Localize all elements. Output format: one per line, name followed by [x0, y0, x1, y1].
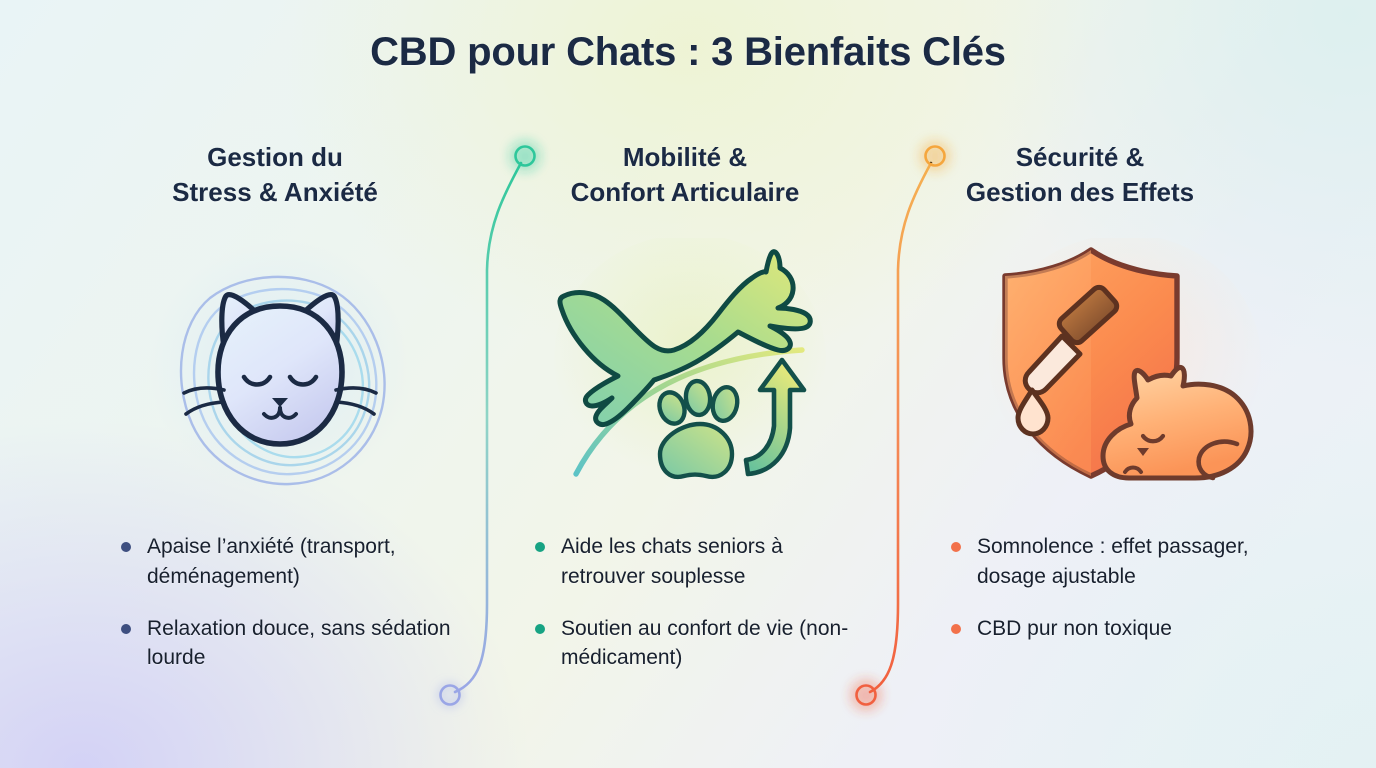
column-mobilite: Mobilité & Confort Articulaire [505, 140, 865, 209]
list-item: CBD pur non toxique [948, 614, 1278, 644]
bullet-dot-icon [121, 624, 131, 634]
list-item: Somnolence : effet passager, dosage ajus… [948, 532, 1278, 592]
heading-line-1: Sécurité & [1016, 142, 1145, 172]
bullet-list-mobilite: Aide les chats seniors à retrouver soupl… [532, 532, 862, 673]
list-item: Aide les chats seniors à retrouver soupl… [532, 532, 862, 592]
leaping-cat-paw-and-up-arrow-icon [550, 238, 830, 498]
column-securite: Sécurité & Gestion des Effets [900, 140, 1260, 209]
list-item-text: Soutien au confort de vie (non-médicamen… [561, 617, 848, 670]
list-item: Soutien au confort de vie (non-médicamen… [532, 614, 862, 674]
list-item-text: CBD pur non toxique [977, 617, 1172, 640]
heading-line-2: Confort Articulaire [571, 177, 800, 207]
calm-cat-face-with-ripples-icon [140, 238, 420, 498]
list-item-text: Somnolence : effet passager, dosage ajus… [977, 535, 1249, 588]
bullet-dot-icon [535, 542, 545, 552]
bullet-dot-icon [535, 624, 545, 634]
column-heading-stress: Gestion du Stress & Anxiété [95, 140, 455, 209]
heading-line-2: Stress & Anxiété [172, 177, 378, 207]
bullet-dot-icon [121, 542, 131, 552]
heading-line-2: Gestion des Effets [966, 177, 1194, 207]
list-item-text: Apaise l’anxiété (transport, déménagemen… [147, 535, 396, 588]
list-item: Apaise l’anxiété (transport, déménagemen… [118, 532, 464, 592]
heading-line-1: Mobilité & [623, 142, 747, 172]
list-item-text: Aide les chats seniors à retrouver soupl… [561, 535, 783, 588]
column-stress: Gestion du Stress & Anxiété [95, 140, 455, 209]
list-item: Relaxation douce, sans sédation lourde [118, 614, 464, 674]
column-heading-mobilite: Mobilité & Confort Articulaire [505, 140, 865, 209]
shield-dropper-sleeping-cat-icon [985, 238, 1265, 498]
list-item-text: Relaxation douce, sans sédation lourde [147, 617, 451, 670]
bullet-list-securite: Somnolence : effet passager, dosage ajus… [948, 532, 1278, 643]
bullet-dot-icon [951, 624, 961, 634]
bullet-dot-icon [951, 542, 961, 552]
heading-line-1: Gestion du [207, 142, 343, 172]
infographic-canvas: CBD pour Chats : 3 Bienfaits Clés [0, 0, 1376, 768]
bullet-list-stress: Apaise l’anxiété (transport, déménagemen… [118, 532, 464, 673]
column-heading-securite: Sécurité & Gestion des Effets [900, 140, 1260, 209]
